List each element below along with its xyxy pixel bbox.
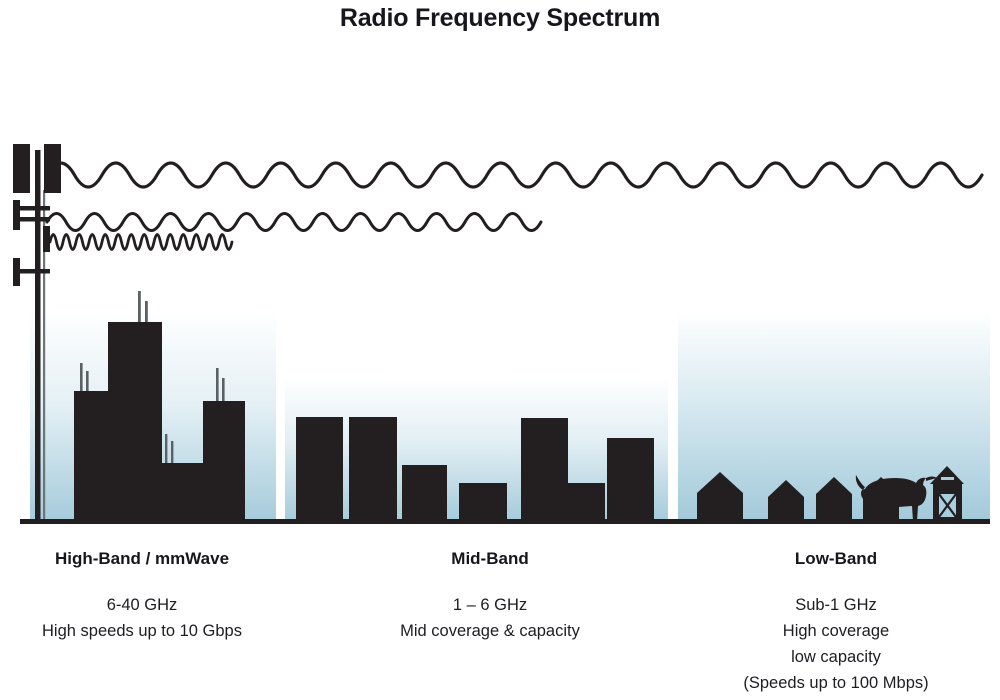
antenna-panel-right bbox=[44, 144, 61, 193]
block bbox=[459, 483, 507, 521]
barn-loft-window bbox=[941, 477, 954, 480]
band-label-mid-band: Mid-Band bbox=[345, 549, 635, 569]
block bbox=[568, 483, 605, 521]
building-spire bbox=[165, 434, 167, 463]
band-frequency-low-band: Sub-1 GHz bbox=[680, 592, 992, 618]
band-frequency-mid-band: 1 – 6 GHz bbox=[345, 592, 635, 618]
band-desc-line-mid-band-0: Mid coverage & capacity bbox=[345, 618, 635, 644]
antenna-crossbar-upper-2 bbox=[20, 217, 50, 222]
building bbox=[108, 322, 162, 521]
band-label-low-band: Low-Band bbox=[680, 549, 992, 569]
building-spire bbox=[171, 441, 173, 463]
block bbox=[607, 438, 654, 521]
low-frequency-wave bbox=[47, 163, 982, 187]
band-desc-line-low-band-1: low capacity bbox=[680, 644, 992, 670]
block bbox=[402, 465, 447, 521]
tower-mast bbox=[35, 150, 41, 521]
band-desc-low-band: Sub-1 GHz High coverage low capacity (Sp… bbox=[680, 592, 992, 696]
band-desc-line-low-band-0: High coverage bbox=[680, 618, 992, 644]
band-desc-line-high-band-0: High speeds up to 10 Gbps bbox=[0, 618, 284, 644]
band-frequency-high-band: 6-40 GHz bbox=[0, 592, 284, 618]
building bbox=[160, 463, 207, 521]
antenna-panel-mid-left bbox=[13, 200, 20, 230]
block bbox=[296, 417, 343, 521]
building-spire bbox=[216, 368, 219, 401]
block bbox=[349, 417, 397, 521]
building bbox=[203, 401, 245, 521]
antenna-panel-left bbox=[13, 144, 30, 193]
mid-frequency-wave bbox=[47, 214, 541, 231]
building-spire bbox=[138, 291, 141, 323]
band-desc-high-band: 6-40 GHz High speeds up to 10 Gbps bbox=[0, 592, 284, 644]
antenna-crossbar-upper bbox=[13, 206, 50, 211]
building-spire bbox=[145, 301, 148, 323]
antenna-panel-mid-right bbox=[43, 226, 50, 252]
building-spire bbox=[86, 371, 89, 393]
block bbox=[521, 418, 568, 521]
band-label-high-band: High-Band / mmWave bbox=[0, 549, 284, 569]
building-spire bbox=[80, 363, 83, 393]
antenna-crossbar-lower bbox=[13, 269, 50, 274]
ground-line bbox=[20, 519, 990, 524]
band-desc-line-low-band-2: (Speeds up to 100 Mbps) bbox=[680, 670, 992, 696]
band-desc-mid-band: 1 – 6 GHz Mid coverage & capacity bbox=[345, 592, 635, 644]
building-spire bbox=[222, 378, 225, 401]
infographic-canvas: Radio Frequency Spectrum bbox=[0, 0, 1000, 700]
high-frequency-wave bbox=[50, 235, 232, 250]
